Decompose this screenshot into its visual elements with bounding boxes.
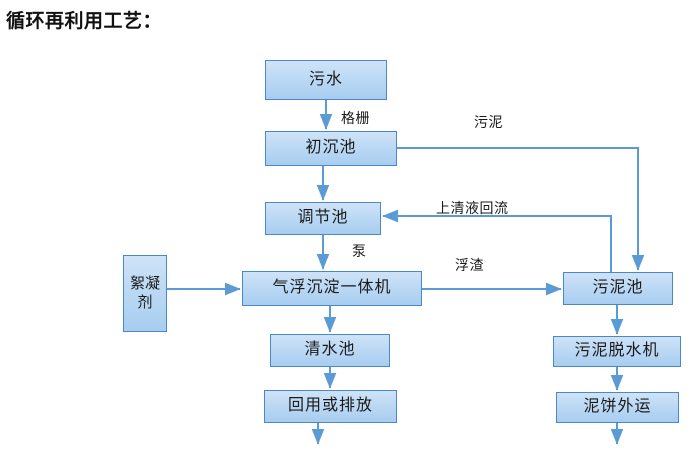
edge-label-grating: 格栅	[341, 108, 370, 128]
node-label: 初沉池	[305, 139, 356, 157]
edge-label-sludge: 污泥	[474, 112, 503, 132]
node-flocculant[interactable]: 絮凝剂	[123, 255, 167, 332]
node-sludge-tank[interactable]: 污泥池	[563, 272, 673, 305]
flowchart-canvas: 循环再利用工艺：	[0, 0, 700, 450]
node-cake-transport[interactable]: 泥饼外运	[556, 392, 679, 423]
node-label: 污泥池	[592, 279, 643, 297]
connector-primary-to-sludge-tank	[397, 148, 638, 270]
node-label: 清水池	[304, 341, 355, 359]
edge-label-pump: 泵	[352, 241, 367, 261]
node-label: 回用或排放	[288, 397, 373, 415]
node-label: 调节池	[297, 209, 348, 227]
node-label: 絮凝剂	[126, 275, 164, 313]
node-wastewater[interactable]: 污水	[265, 60, 387, 100]
node-reuse-discharge[interactable]: 回用或排放	[264, 390, 397, 423]
node-label: 气浮沉淀一体机	[272, 279, 391, 297]
node-label: 污泥脱水机	[574, 342, 659, 360]
node-clearwater-tank[interactable]: 清水池	[270, 334, 390, 367]
page-title: 循环再利用工艺：	[6, 6, 162, 33]
connector-sludge-tank-to-regulating	[383, 216, 611, 272]
node-sludge-dewaterer[interactable]: 污泥脱水机	[553, 336, 681, 367]
node-label: 泥饼外运	[583, 398, 651, 416]
node-regulating-tank[interactable]: 调节池	[265, 202, 381, 235]
node-flotation-machine[interactable]: 气浮沉淀一体机	[242, 271, 422, 306]
node-label: 污水	[309, 71, 343, 89]
edge-label-scum: 浮渣	[455, 255, 484, 275]
edge-label-supernatant-reflux: 上清液回流	[436, 198, 509, 218]
node-primary-tank[interactable]: 初沉池	[265, 131, 397, 166]
